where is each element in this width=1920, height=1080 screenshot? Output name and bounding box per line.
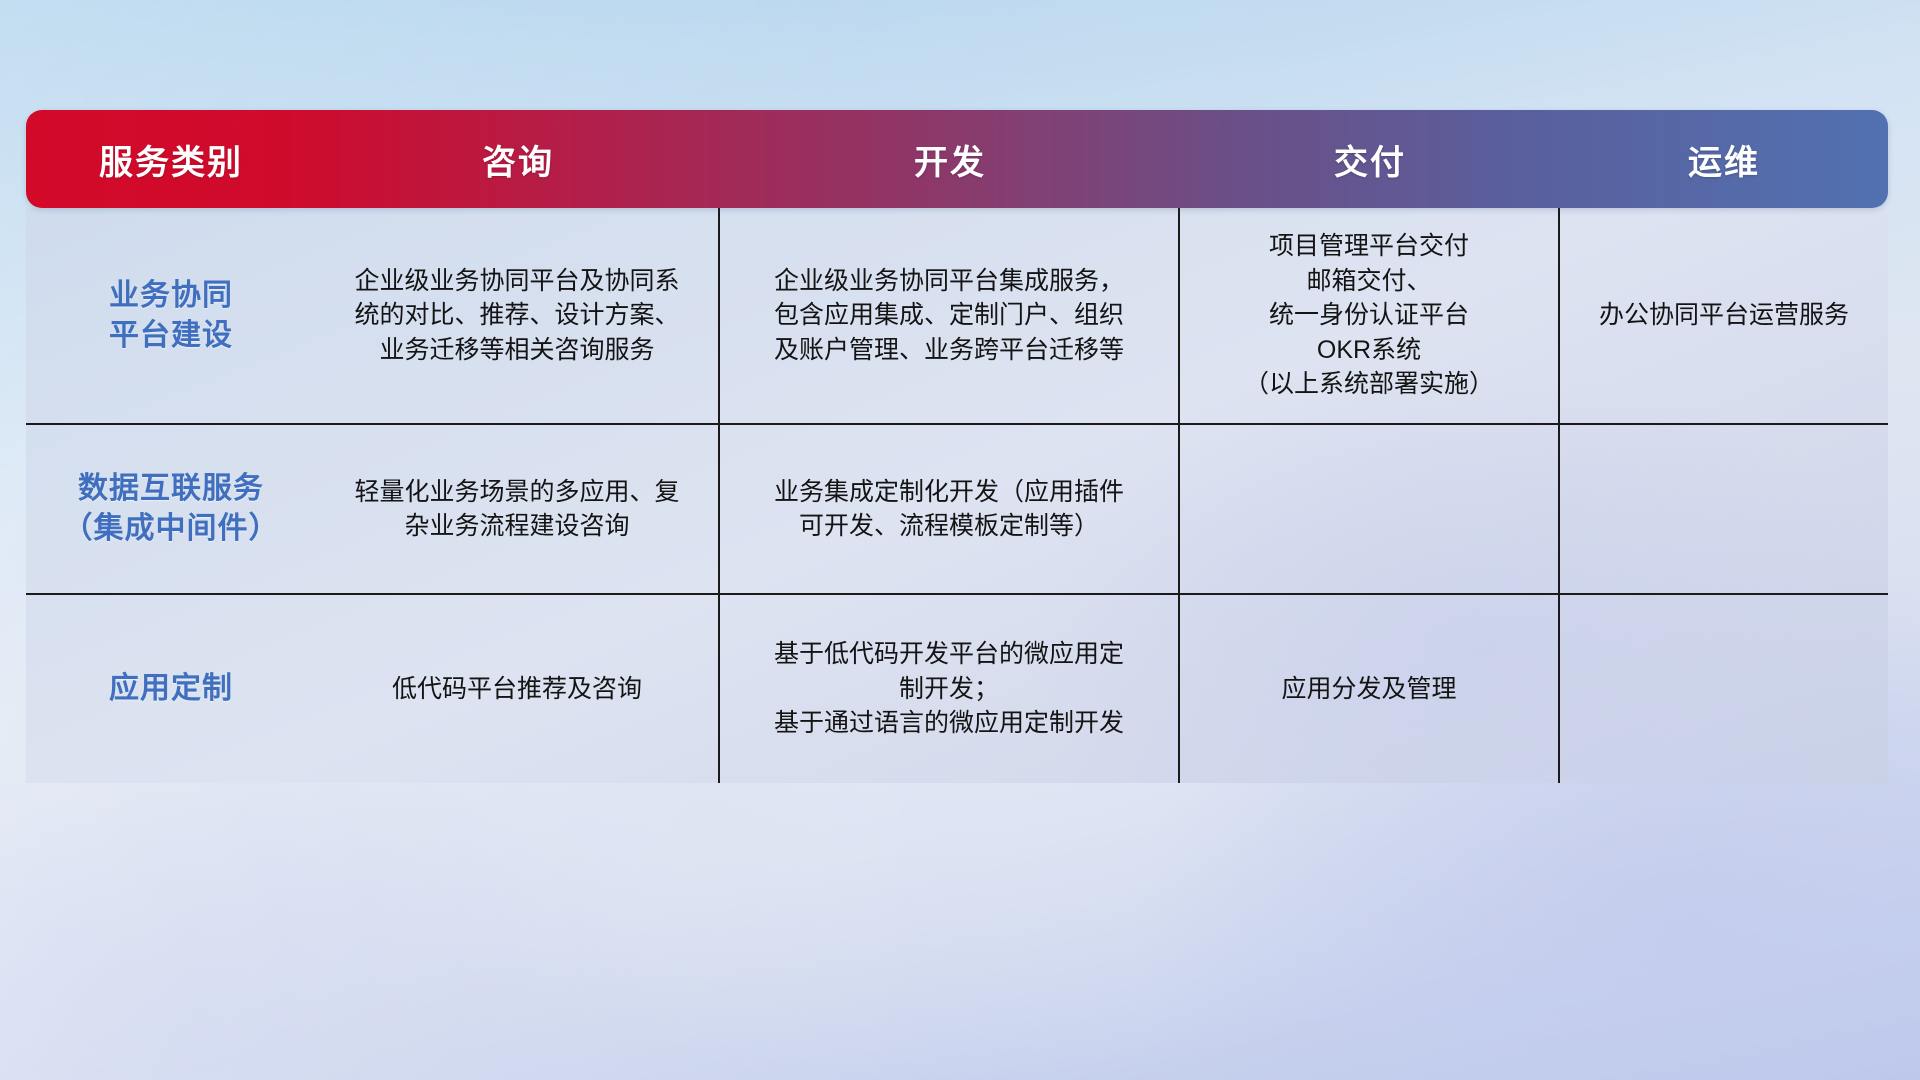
- column-header-service-category: 服务类别: [26, 110, 316, 208]
- slide-canvas: 服务类别 咨询 开发 交付 运维 业务协同 平台建设 企业级业务协同平台及协同系…: [0, 0, 1920, 1080]
- service-matrix-table: 服务类别 咨询 开发 交付 运维 业务协同 平台建设 企业级业务协同平台及协同系…: [26, 110, 1888, 783]
- cell-operations: [1560, 595, 1888, 783]
- row-category-label: 业务协同 平台建设: [26, 208, 316, 423]
- column-header-development: 开发: [720, 110, 1180, 208]
- cell-development: 基于低代码开发平台的微应用定 制开发； 基于通过语言的微应用定制开发: [720, 595, 1180, 783]
- table-header-row: 服务类别 咨询 开发 交付 运维: [26, 110, 1888, 208]
- cell-consulting: 轻量化业务场景的多应用、复 杂业务流程建设咨询: [316, 425, 720, 593]
- column-header-consulting: 咨询: [316, 110, 720, 208]
- cell-consulting: 低代码平台推荐及咨询: [316, 595, 720, 783]
- cell-operations: [1560, 425, 1888, 593]
- cell-delivery: [1180, 425, 1560, 593]
- table-row: 应用定制 低代码平台推荐及咨询 基于低代码开发平台的微应用定 制开发； 基于通过…: [26, 593, 1888, 783]
- cell-operations: 办公协同平台运营服务: [1560, 208, 1888, 423]
- table-row: 数据互联服务 （集成中间件） 轻量化业务场景的多应用、复 杂业务流程建设咨询 业…: [26, 423, 1888, 593]
- table-row: 业务协同 平台建设 企业级业务协同平台及协同系 统的对比、推荐、设计方案、 业务…: [26, 208, 1888, 423]
- cell-development: 业务集成定制化开发（应用插件 可开发、流程模板定制等）: [720, 425, 1180, 593]
- column-header-operations: 运维: [1560, 110, 1888, 208]
- row-category-label: 应用定制: [26, 595, 316, 783]
- cell-development: 企业级业务协同平台集成服务， 包含应用集成、定制门户、组织 及账户管理、业务跨平…: [720, 208, 1180, 423]
- column-header-delivery: 交付: [1180, 110, 1560, 208]
- cell-delivery: 应用分发及管理: [1180, 595, 1560, 783]
- row-category-label: 数据互联服务 （集成中间件）: [26, 425, 316, 593]
- cell-consulting: 企业级业务协同平台及协同系 统的对比、推荐、设计方案、 业务迁移等相关咨询服务: [316, 208, 720, 423]
- cell-delivery: 项目管理平台交付 邮箱交付、 统一身份认证平台 OKR系统 （以上系统部署实施）: [1180, 208, 1560, 423]
- table-body: 业务协同 平台建设 企业级业务协同平台及协同系 统的对比、推荐、设计方案、 业务…: [26, 208, 1888, 783]
